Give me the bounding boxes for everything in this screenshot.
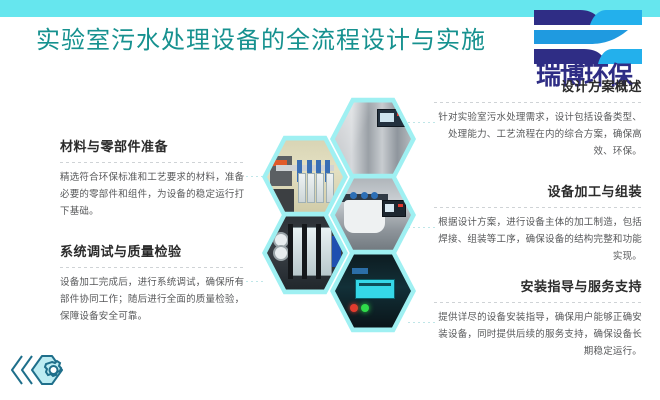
block-heading-commission: 系统调试与质量检验 <box>60 243 246 261</box>
page-title: 实验室污水处理设备的全流程设计与实施 <box>36 24 486 58</box>
photo-steel-cabinet <box>335 101 411 177</box>
photo-pipes-valves <box>267 139 343 215</box>
slide-canvas: 实验室污水处理设备的全流程设计与实施 瑞博环保 <box>0 0 660 400</box>
content-block-materials: 材料与零部件准备 精选符合环保标准和工艺要求的材料，准备必要的零部件和组件，为设… <box>60 138 246 221</box>
block-divider <box>434 302 642 303</box>
block-heading-install: 安装指导与服务支持 <box>434 278 642 296</box>
content-block-fabrication: 设备加工与组装 根据设计方案，进行设备主体的加工制造，包括焊接、组装等工序，确保… <box>434 183 642 266</box>
hmi-touchscreen <box>355 279 395 299</box>
content-block-design: 设计方案概述 针对实验室污水处理需求，设计包括设备类型、处理能力、工艺流程在内的… <box>434 78 642 161</box>
block-divider <box>434 102 642 103</box>
logo-mark-icon <box>532 8 644 66</box>
tank-hmi-panel <box>382 200 406 217</box>
hexagon-photo-hmi <box>335 253 411 329</box>
indicator-led-red <box>350 304 358 312</box>
hexagon-photo-filter <box>267 215 343 291</box>
hexagon-photo-cabinet <box>335 101 411 177</box>
gear-chevrons-icon <box>8 350 70 390</box>
block-heading-materials: 材料与零部件准备 <box>60 138 246 156</box>
cabinet-control-panel <box>377 109 405 127</box>
block-heading-design: 设计方案概述 <box>434 78 642 96</box>
content-block-install: 安装指导与服务支持 提供详尽的设备安装指导，确保用户能够正确安装设备，同时提供后… <box>434 278 642 361</box>
block-body-materials: 精选符合环保标准和工艺要求的材料，准备必要的零部件和组件，为设备的稳定运行打下基… <box>60 170 246 221</box>
tank-drum <box>344 200 385 233</box>
block-divider <box>434 207 642 208</box>
block-divider <box>60 267 246 268</box>
block-divider <box>60 162 246 163</box>
hexagon-photo-valves <box>267 139 343 215</box>
block-body-design: 针对实验室污水处理需求，设计包括设备类型、处理能力、工艺流程在内的综合方案，确保… <box>434 110 642 161</box>
photo-control-screen <box>335 253 411 329</box>
indicator-led-green <box>361 304 369 312</box>
block-body-commission: 设备加工完成后，进行系统调试，确保所有部件协同工作；随后进行全面的质量检验，保障… <box>60 275 246 326</box>
photo-filter-columns <box>267 215 343 291</box>
block-body-install: 提供详尽的设备安装指导，确保用户能够正确安装设备，同时提供后续的服务支持，确保设… <box>434 310 642 361</box>
block-heading-fabrication: 设备加工与组装 <box>434 183 642 201</box>
content-block-commission: 系统调试与质量检验 设备加工完成后，进行系统调试，确保所有部件协同工作；随后进行… <box>60 243 246 326</box>
block-body-fabrication: 根据设计方案，进行设备主体的加工制造，包括焊接、组装等工序，确保设备的结构完整和… <box>434 215 642 266</box>
photo-equipment-tank <box>335 177 411 253</box>
hexagon-photo-cluster <box>252 96 444 368</box>
hexagon-photo-tank <box>335 177 411 253</box>
